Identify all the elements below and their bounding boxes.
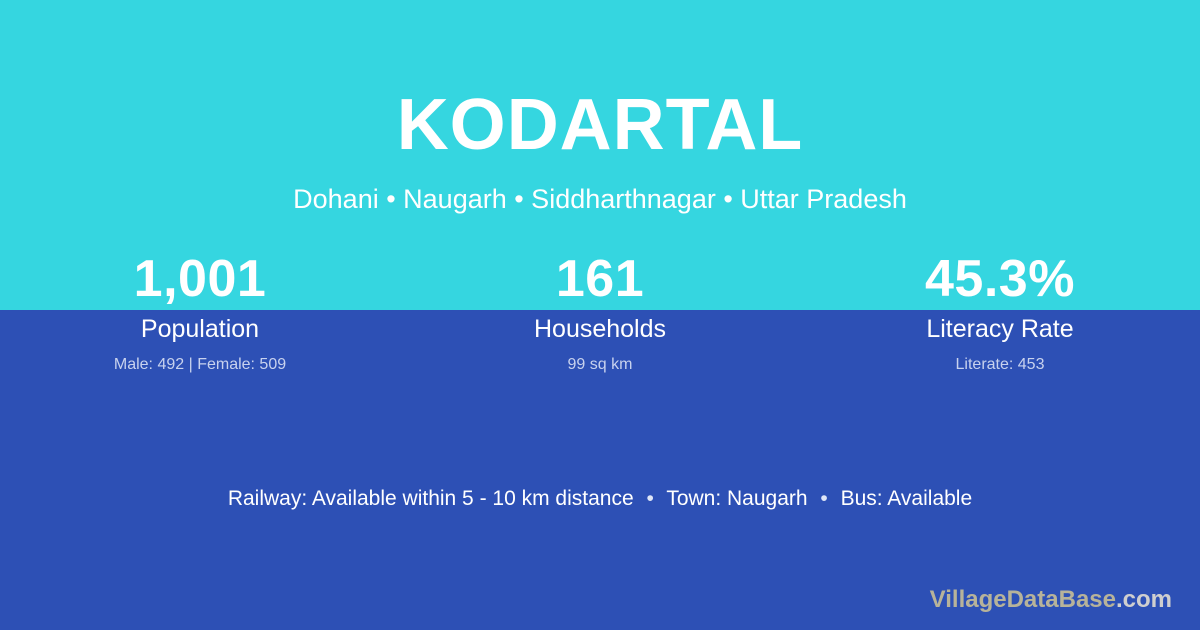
- facility-railway: Railway: Available within 5 - 10 km dist…: [228, 487, 634, 510]
- facility-separator-icon: •: [813, 487, 834, 510]
- stat-label: Households: [400, 313, 800, 345]
- stat-households: 161 Households 99 sq km: [400, 247, 800, 376]
- stat-population: 1,001 Population Male: 492 | Female: 509: [0, 247, 400, 376]
- breadcrumb: Dohani • Naugarh • Siddharthnagar • Utta…: [0, 182, 1200, 216]
- stat-sublabel: Literate: 453: [800, 354, 1200, 376]
- facility-bus: Bus: Available: [841, 487, 973, 510]
- stats-row: 1,001 Population Male: 492 | Female: 509…: [0, 247, 1200, 376]
- facility-separator-icon: •: [639, 487, 660, 510]
- site-watermark: VillageDataBase.com: [930, 584, 1172, 616]
- stat-label: Literacy Rate: [800, 313, 1200, 345]
- facility-town: Town: Naugarh: [666, 487, 807, 510]
- stat-label: Population: [0, 313, 400, 345]
- stat-value: 45.3%: [800, 247, 1200, 311]
- brand-name: VillageDataBase: [930, 586, 1116, 613]
- brand-tld: .com: [1116, 586, 1172, 613]
- stat-sublabel: Male: 492 | Female: 509: [0, 354, 400, 376]
- page-title: KODARTAL: [0, 82, 1200, 168]
- stat-value: 161: [400, 247, 800, 311]
- stat-value: 1,001: [0, 247, 400, 311]
- stat-literacy-rate: 45.3% Literacy Rate Literate: 453: [800, 247, 1200, 376]
- stat-sublabel: 99 sq km: [400, 354, 800, 376]
- facilities-line: Railway: Available within 5 - 10 km dist…: [0, 484, 1200, 514]
- village-info-card: KODARTAL Dohani • Naugarh • Siddharthnag…: [0, 0, 1200, 630]
